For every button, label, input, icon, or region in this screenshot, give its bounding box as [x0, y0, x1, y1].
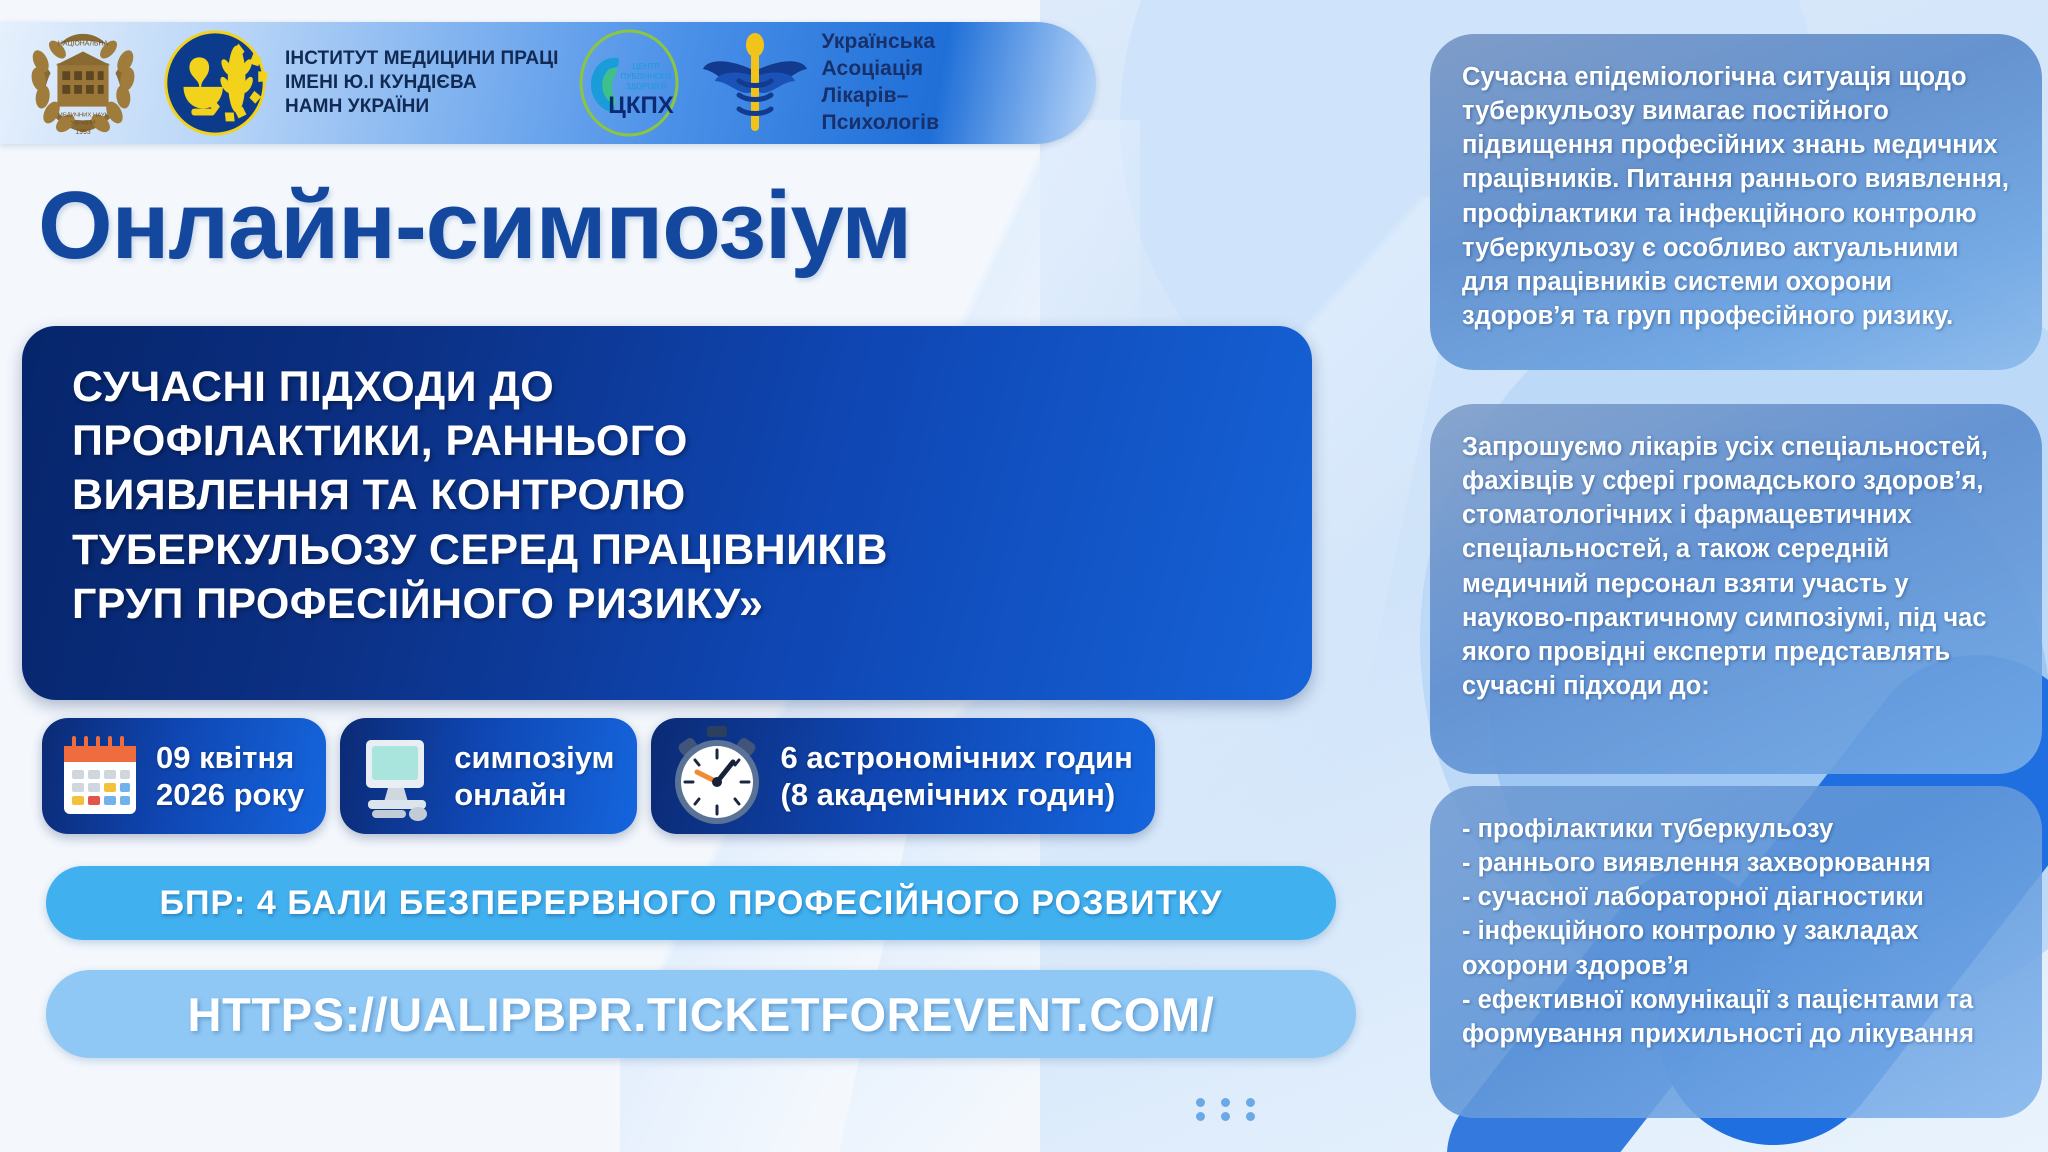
svg-text:1993: 1993 — [75, 129, 90, 136]
calendar-icon — [56, 730, 144, 822]
pill-format-text: симпозіум онлайн — [454, 739, 614, 813]
pill-date: 09 квітня 2026 року — [42, 718, 326, 834]
svg-text:УКРАЇНИ: УКРАЇНИ — [71, 119, 96, 126]
dot-3 — [1246, 1098, 1255, 1107]
pill-duration-text: 6 астрономічних годин (8 академічних год… — [781, 739, 1133, 813]
decorative-dots — [1196, 1098, 1255, 1107]
ckph-abbreviation: ЦКПХ — [608, 92, 673, 119]
logo-institute-caption: ІНСТИТУТ МЕДИЦИНИ ПРАЦІ ІМЕНІ Ю.І КУНДІЄ… — [285, 47, 559, 120]
svg-text:НАЦІОНАЛЬНА: НАЦІОНАЛЬНА — [58, 41, 109, 48]
svg-text:МЕДИЧНИХ НАУК: МЕДИЧНИХ НАУК — [58, 112, 109, 118]
topics-list-text: - профілактики туберкульозу - раннього в… — [1462, 812, 2012, 1051]
pill-date-text: 09 квітня 2026 року — [156, 739, 304, 813]
cpd-credits-banner: БПР: 4 БАЛИ БЕЗПЕРЕРВНОГО ПРОФЕСІЙНОГО Р… — [46, 866, 1336, 940]
stopwatch-icon — [665, 724, 769, 828]
caduceus-wings-icon — [699, 29, 811, 137]
svg-text:ПУБЛІЧНОГО: ПУБЛІЧНОГО — [620, 72, 671, 81]
logo-ualp: Українська Асоціація Лікарів– Психологів — [699, 29, 940, 137]
dot-1 — [1196, 1098, 1205, 1107]
logo-institute-of-occupational-health: ІНСТИТУТ МЕДИЦИНИ ПРАЦІ ІМЕНІ Ю.І КУНДІЄ… — [156, 27, 559, 139]
logo-ualp-caption: Українська Асоціація Лікарів– Психологів — [822, 29, 940, 137]
event-info-pills: 09 квітня 2026 року симпозіум онлайн — [42, 718, 1155, 834]
ckph-leaf-icon: ЦЕНТР ПУБЛІЧНОГО ЗДОРОВ'Я ЦКПХ — [573, 29, 685, 137]
organizer-logo-strip: НАЦІОНАЛЬНА МЕДИЧНИХ НАУК УКРАЇНИ 1993 — [0, 22, 1096, 144]
dot-2 — [1221, 1098, 1230, 1107]
logo-national-academy: НАЦІОНАЛЬНА МЕДИЧНИХ НАУК УКРАЇНИ 1993 — [24, 27, 142, 139]
symposium-title-card: СУЧАСНІ ПІДХОДИ ДО ПРОФІЛАКТИКИ, РАННЬОГ… — [22, 326, 1312, 700]
pill-format: симпозіум онлайн — [340, 718, 636, 834]
invitation-card: Запрошуємо лікарів усіх спеціальностей, … — [1430, 404, 2042, 774]
svg-text:ЦЕНТР: ЦЕНТР — [632, 62, 659, 71]
svg-text:ЗДОРОВ'Я: ЗДОРОВ'Я — [625, 82, 666, 91]
invitation-text: Запрошуємо лікарів усіх спеціальностей, … — [1462, 430, 2012, 703]
registration-url-banner[interactable]: HTTPS://UALIPBPR.TICKETFOREVENT.COM/ — [46, 970, 1356, 1058]
desktop-computer-icon — [354, 730, 442, 822]
poster-canvas: НАЦІОНАЛЬНА МЕДИЧНИХ НАУК УКРАЇНИ 1993 — [0, 0, 2048, 1152]
registration-url-text[interactable]: HTTPS://UALIPBPR.TICKETFOREVENT.COM/ — [188, 987, 1215, 1042]
symposium-title-text: СУЧАСНІ ПІДХОДИ ДО ПРОФІЛАКТИКИ, РАННЬОГ… — [72, 360, 1266, 631]
pill-duration: 6 астрономічних годин (8 академічних год… — [651, 718, 1155, 834]
topics-list-card: - профілактики туберкульозу - раннього в… — [1430, 786, 2042, 1118]
academy-emblem-icon: НАЦІОНАЛЬНА МЕДИЧНИХ НАУК УКРАЇНИ 1993 — [24, 27, 142, 139]
logo-ckph: ЦЕНТР ПУБЛІЧНОГО ЗДОРОВ'Я ЦКПХ — [573, 29, 685, 137]
cpd-credits-text: БПР: 4 БАЛИ БЕЗПЕРЕРВНОГО ПРОФЕСІЙНОГО Р… — [159, 884, 1222, 923]
epidemiology-context-text: Сучасна епідеміологічна ситуація щодо ту… — [1462, 60, 2012, 333]
page-title: Онлайн-симпозіум — [38, 178, 911, 274]
epidemiology-context-card: Сучасна епідеміологічна ситуація щодо ту… — [1430, 34, 2042, 370]
institute-bowl-of-hygieia-gear-icon — [156, 27, 274, 139]
